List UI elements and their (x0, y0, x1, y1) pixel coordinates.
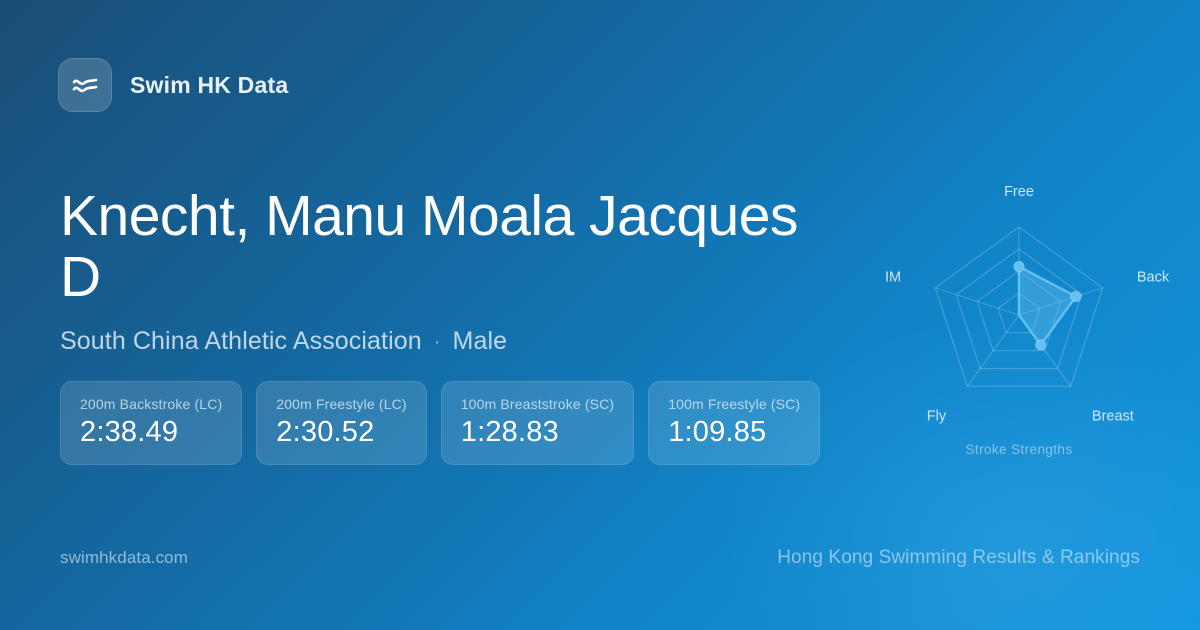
share-card: Swim HK Data Knecht, Manu Moala Jacques … (0, 0, 1200, 630)
athlete-hero: Knecht, Manu Moala Jacques D South China… (60, 186, 860, 356)
svg-text:Back: Back (1137, 270, 1169, 286)
stat-card-label: 200m Freestyle (LC) (276, 396, 406, 412)
athlete-gender: Male (453, 327, 508, 356)
stat-card[interactable]: 100m Freestyle (SC) 1:09.85 (648, 381, 820, 465)
wave-icon (58, 58, 112, 112)
svg-text:Fly: Fly (927, 408, 947, 424)
stat-card-label: 100m Freestyle (SC) (668, 396, 800, 412)
athlete-club: South China Athletic Association (60, 327, 422, 356)
brand-name: Swim HK Data (130, 72, 288, 99)
stat-card[interactable]: 200m Backstroke (LC) 2:38.49 (60, 381, 242, 465)
stroke-strengths-radar-chart: FreeBackBreastFlyIM Stroke Strengths (869, 170, 1169, 470)
stat-card[interactable]: 200m Freestyle (LC) 2:30.52 (256, 381, 426, 465)
stat-card-value: 1:28.83 (461, 415, 614, 449)
stat-card[interactable]: 100m Breaststroke (SC) 1:28.83 (441, 381, 634, 465)
radar-caption: Stroke Strengths (869, 442, 1169, 457)
brand-header[interactable]: Swim HK Data (58, 58, 288, 112)
stat-card-label: 200m Backstroke (LC) (80, 396, 222, 412)
meta-separator: · (434, 332, 441, 352)
stat-card-value: 1:09.85 (668, 415, 800, 449)
footer-site[interactable]: swimhkdata.com (60, 548, 188, 568)
page-title: Knecht, Manu Moala Jacques D (60, 186, 850, 308)
footer-tagline: Hong Kong Swimming Results & Rankings (777, 547, 1140, 569)
stat-card-label: 100m Breaststroke (SC) (461, 396, 614, 412)
svg-text:Free: Free (1004, 184, 1034, 200)
athlete-meta: South China Athletic Association · Male (60, 327, 860, 356)
svg-text:Breast: Breast (1092, 408, 1134, 424)
best-times-list: 200m Backstroke (LC) 2:38.49 200m Freest… (60, 381, 820, 465)
stat-card-value: 2:30.52 (276, 415, 406, 449)
svg-text:IM: IM (885, 270, 901, 286)
stat-card-value: 2:38.49 (80, 415, 222, 449)
